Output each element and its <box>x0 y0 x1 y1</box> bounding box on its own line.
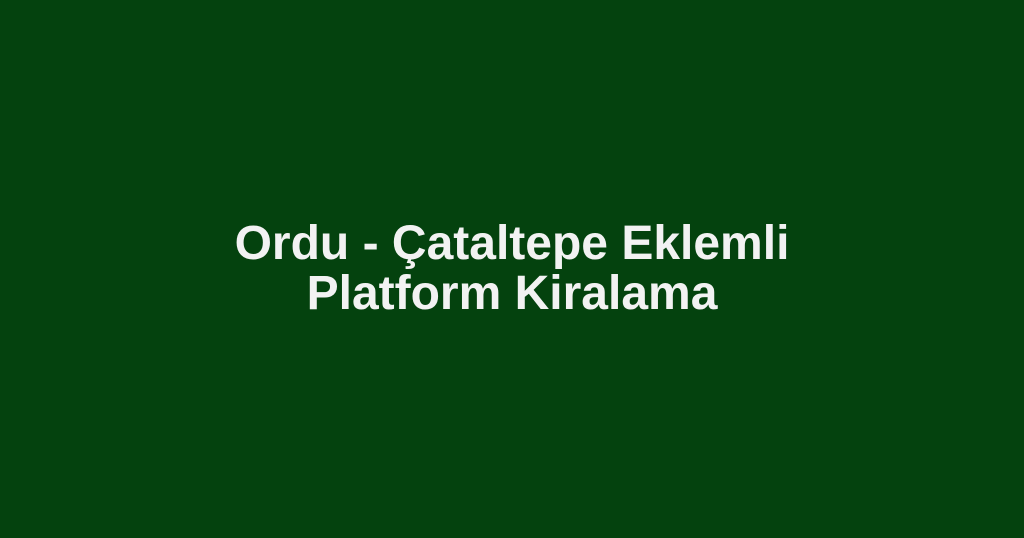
page-title: Ordu - Çataltepe Eklemli Platform Kirala… <box>144 219 880 319</box>
share-card: Ordu - Çataltepe Eklemli Platform Kirala… <box>0 0 1024 538</box>
headline-block: Ordu - Çataltepe Eklemli Platform Kirala… <box>132 219 892 319</box>
